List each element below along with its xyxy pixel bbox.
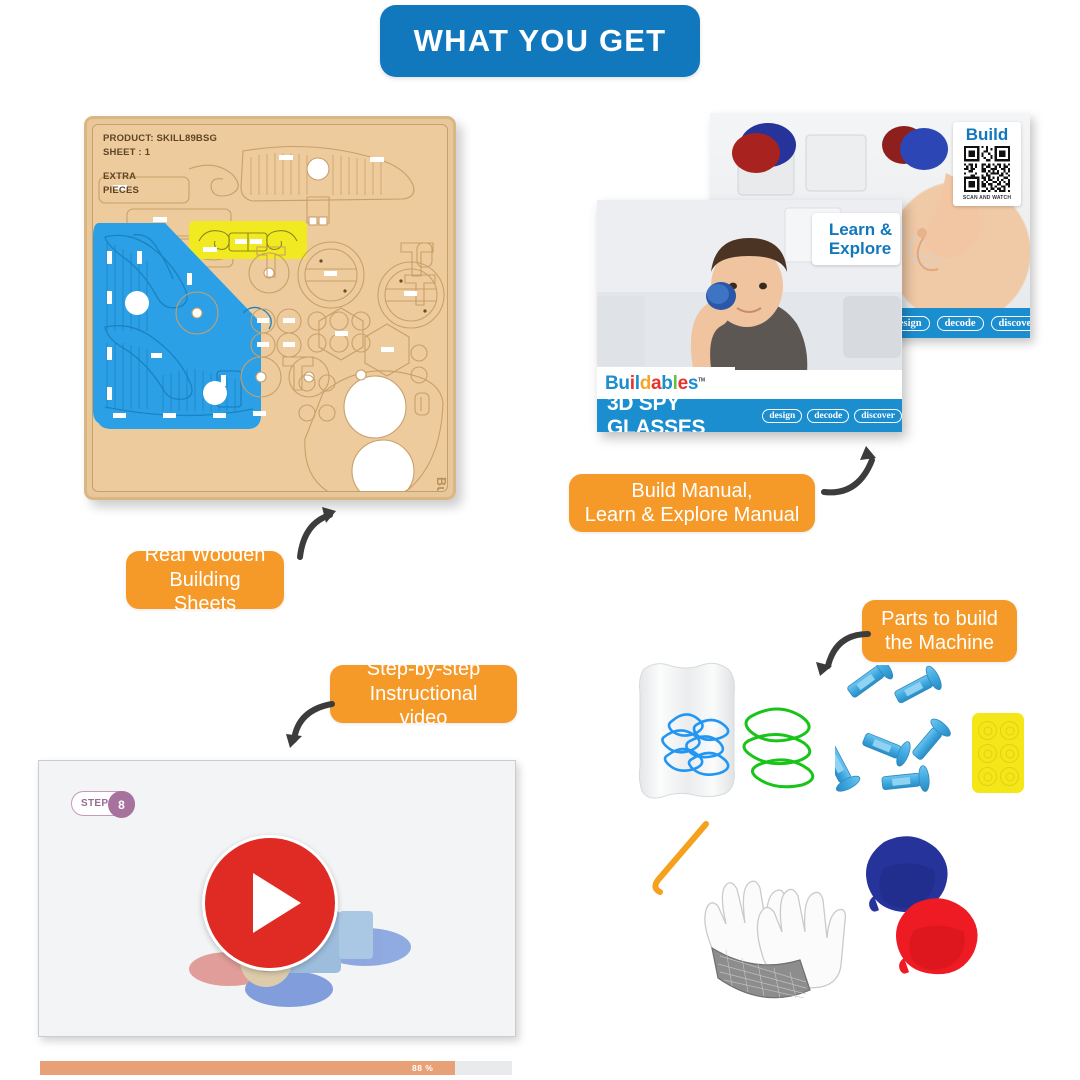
- learn-explore-badge: Learn & Explore: [812, 213, 900, 265]
- brand-tm: TM: [698, 377, 705, 383]
- block-hole-3: [978, 744, 997, 763]
- callout-build-manual: Build Manual, Learn & Explore Manual: [569, 474, 815, 532]
- sheet-text-block: PRODUCT: SKILL89BSG SHEET : 1 EXTRA PIEC…: [103, 132, 217, 198]
- page-title: WHAT YOU GET: [414, 23, 667, 59]
- page-title-banner: WHAT YOU GET: [380, 5, 700, 77]
- manual-tags: design decode discover: [762, 409, 902, 423]
- video-progress-label: 88 %: [412, 1063, 433, 1073]
- callout-real-wooden-building-sheets: Real Wooden Building Sheets: [126, 551, 284, 609]
- callout-instructional-video: Step-by-step Instructional video: [330, 665, 517, 723]
- pin-5: [881, 765, 930, 796]
- spy-lens-pieces: [862, 830, 992, 980]
- sheet-cut-area: PRODUCT: SKILL89BSG SHEET : 1 EXTRA PIEC…: [92, 124, 448, 492]
- arrow-to-video: [282, 700, 340, 754]
- sheet-board: PRODUCT: SKILL89BSG SHEET : 1 EXTRA PIEC…: [84, 116, 456, 500]
- buildables-logo: BuildablesTM: [605, 374, 705, 393]
- tag-discover: discover: [991, 316, 1030, 331]
- step-label: STEP: [81, 798, 108, 809]
- pin-2: [891, 665, 945, 709]
- manual-title: 3D SPY GLASSES: [607, 392, 752, 433]
- pin-3: [860, 726, 913, 768]
- callout-wood-line-1: Real Wooden: [140, 543, 270, 567]
- sheet-extra-line-1: EXTRA: [103, 170, 217, 184]
- callout-manual-line-2: Learn & Explore Manual: [585, 503, 800, 527]
- arrow-to-manuals: [818, 442, 880, 500]
- scan-and-watch-label: SCAN AND WATCH: [963, 195, 1011, 201]
- build-qr-card[interactable]: Build SCAN AND WATCH: [953, 122, 1021, 206]
- play-triangle-icon: [253, 873, 301, 933]
- video-progress-fill: 88 %: [40, 1061, 455, 1075]
- disc-1: [344, 376, 406, 438]
- callout-video-line-1: Step-by-step: [344, 657, 503, 681]
- video-play-button[interactable]: [202, 835, 338, 971]
- yellow-connector-block: [972, 713, 1024, 793]
- block-hole-4: [1000, 744, 1019, 763]
- block-hole-5: [978, 767, 997, 786]
- safety-gloves: [690, 850, 860, 1000]
- tag-discover: discover: [854, 409, 902, 423]
- callout-parts-to-build: Parts to build the Machine: [862, 600, 1017, 662]
- block-hole-6: [1000, 767, 1019, 786]
- rubber-bands-group: [630, 655, 860, 815]
- build-manual-tags: design decode discover: [885, 316, 1030, 331]
- learn-badge-line-1: Learn &: [829, 220, 892, 239]
- highlight-yellow: [189, 221, 307, 259]
- arrow-to-wooden-sheet: [292, 505, 352, 565]
- green-rubber-bands: [744, 709, 813, 787]
- block-hole-2: [1000, 721, 1019, 740]
- pin-4: [835, 741, 862, 795]
- wooden-building-sheet: PRODUCT: SKILL89BSG SHEET : 1 EXTRA PIEC…: [84, 116, 456, 500]
- infographic-canvas: WHAT YOU GET: [0, 0, 1080, 1080]
- build-label: Build: [966, 126, 1009, 143]
- pin-1: [842, 665, 895, 703]
- callout-parts-line-2: the Machine: [881, 631, 998, 655]
- step-number: 8: [108, 791, 135, 818]
- callout-manual-line-1: Build Manual,: [585, 479, 800, 503]
- block-hole-1: [978, 721, 997, 740]
- red-lens: [896, 898, 978, 974]
- sheet-extra-line-2: PIECES: [103, 184, 217, 198]
- sheet-brand-mark: Buildables: [434, 477, 448, 492]
- disc-2: [352, 440, 414, 492]
- tag-design: design: [762, 409, 802, 423]
- video-progress-track[interactable]: 88 %: [40, 1061, 512, 1075]
- learn-badge-line-2: Explore: [829, 239, 892, 258]
- callout-wood-line-2: Building Sheets: [140, 568, 270, 617]
- sheet-number: SHEET : 1: [103, 146, 217, 160]
- qr-code-icon[interactable]: [964, 146, 1010, 192]
- manual-title-strip: 3D SPY GLASSES design decode discover: [597, 399, 902, 432]
- sheet-product-code: PRODUCT: SKILL89BSG: [103, 132, 217, 146]
- tag-decode: decode: [807, 409, 849, 423]
- callout-parts-line-1: Parts to build: [881, 607, 998, 631]
- pin-6: [907, 716, 953, 764]
- callout-video-line-2: Instructional video: [344, 682, 503, 731]
- blue-connector-pins: [835, 665, 965, 805]
- video-step-badge: STEP 8: [71, 791, 135, 816]
- learn-explore-manual-cover: Learn & Explore BuildablesTM 3D SPY GLAS…: [597, 200, 902, 432]
- tag-decode: decode: [937, 316, 984, 331]
